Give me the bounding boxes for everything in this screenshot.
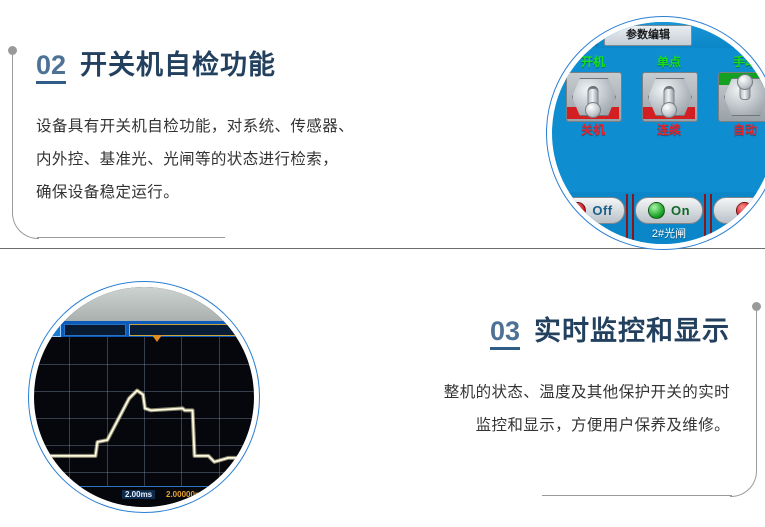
section-02-body-line: 确保设备稳定运行。 [36,176,456,209]
hmi-tab-edit[interactable]: 编辑 [560,25,598,46]
hmi-shutter1-pill[interactable]: Off [557,197,625,224]
scope-timebase-value: 2.00ms [122,490,155,499]
bracket-corner [12,212,39,239]
section-02-body-line: 内外控、基准光、光闸等的状态进行检索， [36,143,456,176]
hmi-shutter2-state: On [671,203,690,218]
hmi-shutter1-label: 1#光闸 [556,226,626,242]
hmi-shutter1-state: Off [592,203,612,218]
led-green-icon [648,202,665,219]
toggle-switch-icon[interactable] [642,72,696,120]
section-02-body-line: 设备具有开关机自检功能，对系统、传感器、 [36,110,456,143]
hmi-shutter2-button[interactable]: On 2#光闸 [632,194,706,242]
scope-bezel-text: · · · · · [208,290,236,297]
hmi-topbar: 编辑 参数编辑 [552,22,765,48]
hmi-switch-power-top-label: 开机 [560,54,626,70]
photo-oscilloscope: · · · · · [28,281,260,513]
scope-info-bar [34,321,254,337]
toggle-switch-icon[interactable] [566,72,620,120]
bracket-corner [730,470,757,497]
toggle-ball [661,102,677,118]
led-red-icon [736,202,753,219]
led-red-icon [569,202,586,219]
scope-info-field-1 [64,324,126,336]
hmi-switch-auto-bottom-label: 自动 [712,122,765,138]
hmi-shutter3-pill[interactable] [713,197,765,224]
scope-bezel: · · · · · [34,287,254,321]
photo-oscilloscope-image: · · · · · [34,287,254,507]
bracket-vertical-line [756,310,757,472]
hmi-switch-mode-top-label: 单点 [636,54,702,70]
hmi-button-row: Off 1#光闸 On 2#光闸 [552,192,765,244]
hmi-tab-parameter-edit[interactable]: 参数编辑 [604,25,692,46]
promo-layout: 02 开关机自检功能 设备具有开关机自检功能，对系统、传感器、 内外控、基准光、… [0,0,765,527]
toggle-switch-icon[interactable] [718,72,765,120]
scope-info-field-2 [129,324,254,336]
bracket-horizontal-line [542,495,732,496]
hmi-switch-mode[interactable]: 单点 连续 [636,54,702,138]
hmi-switch-auto[interactable]: 手动 自动 [712,54,765,138]
hmi-shutter1-button[interactable]: Off 1#光闸 [554,194,628,242]
hmi-switch-power-bottom-label: 关机 [560,122,626,138]
scope-cursor-value: 2.00000ms [166,490,206,499]
toggle-ball [585,102,601,118]
scope-readout-bar: 2.00ms 2.00000ms [34,486,254,507]
hmi-switch-auto-top-label: 手动 [712,54,765,70]
hmi-screen: 编辑 参数编辑 开机 关机 单点 [552,22,765,244]
section-02-heading: 02 开关机自检功能 [36,52,456,84]
hmi-switch-power[interactable]: 开机 关机 [560,54,626,138]
hmi-switch-mode-bottom-label: 连续 [636,122,702,138]
hmi-shutter2-label: 2#光闸 [634,226,704,242]
hmi-shutter2-pill[interactable]: On [635,197,703,224]
photo-control-panel-image: 编辑 参数编辑 开机 关机 单点 [552,22,765,244]
photo-control-panel: 编辑 参数编辑 开机 关机 单点 [546,16,765,250]
scope-channel-chip [37,323,61,337]
section-02-body: 设备具有开关机自检功能，对系统、传感器、 内外控、基准光、光闸等的状态进行检索，… [36,110,456,209]
bracket-decoration-right [537,302,761,508]
bracket-horizontal-line [37,237,225,238]
section-02-title: 开关机自检功能 [80,52,276,79]
toggle-ball [737,74,753,90]
hmi-shutter3-button[interactable] [710,194,765,242]
scope-screen: · · · · · [34,287,254,507]
scope-waveform [34,337,254,488]
section-02-text: 02 开关机自检功能 设备具有开关机自检功能，对系统、传感器、 内外控、基准光、… [36,52,456,209]
section-03-number: 03 [490,318,520,350]
bracket-vertical-line [12,54,13,214]
section-02-number: 02 [36,52,66,84]
